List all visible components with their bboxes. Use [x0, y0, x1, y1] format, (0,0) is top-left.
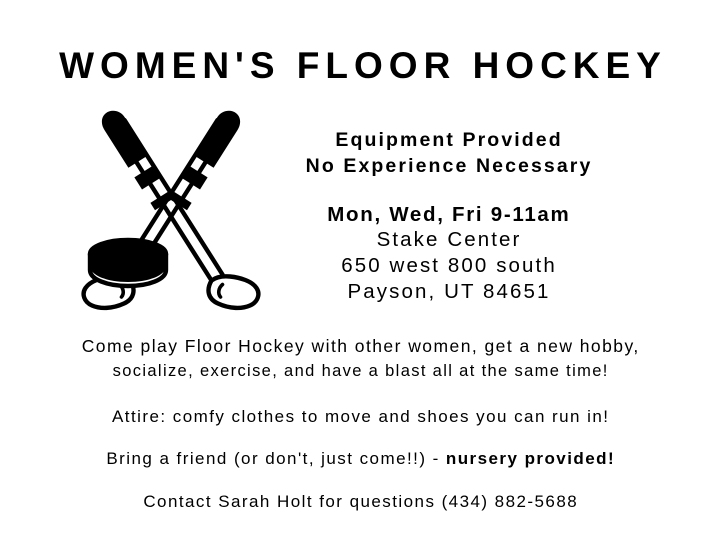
nursery-provided-emphasis: nursery provided!	[446, 449, 615, 468]
bring-friend-line: Bring a friend (or don't, just come!!) -…	[0, 449, 720, 469]
body-spacer-1	[0, 384, 720, 407]
invite-line-2: socialize, exercise, and have a blast al…	[0, 359, 720, 384]
body-text-block: Come play Floor Hockey with other women,…	[0, 334, 720, 512]
schedule-line: Mon, Wed, Fri 9-11am	[258, 202, 638, 227]
contact-line: Contact Sarah Holt for questions (434) 8…	[0, 492, 720, 512]
info-block: Equipment Provided No Experience Necessa…	[258, 128, 638, 306]
info-spacer	[258, 180, 638, 202]
body-spacer-3	[0, 469, 720, 492]
attire-line: Attire: comfy clothes to move and shoes …	[0, 407, 720, 427]
crossed-hockey-sticks-and-puck-icon	[78, 104, 264, 320]
equipment-provided-line: Equipment Provided	[258, 128, 638, 154]
no-experience-line: No Experience Necessary	[258, 154, 638, 180]
page-title: WOMEN'S FLOOR HOCKEY	[0, 47, 720, 86]
invite-line-1: Come play Floor Hockey with other women,…	[0, 334, 720, 359]
city-state-zip-line: Payson, UT 84651	[258, 279, 638, 305]
bring-friend-prefix: Bring a friend (or don't, just come!!) -	[106, 449, 446, 468]
body-spacer-2	[0, 427, 720, 449]
street-line: 650 west 800 south	[258, 253, 638, 279]
flyer-canvas: WOMEN'S FLOOR HOCKEY	[0, 0, 720, 555]
venue-line: Stake Center	[258, 227, 638, 253]
hockey-puck	[90, 240, 166, 286]
